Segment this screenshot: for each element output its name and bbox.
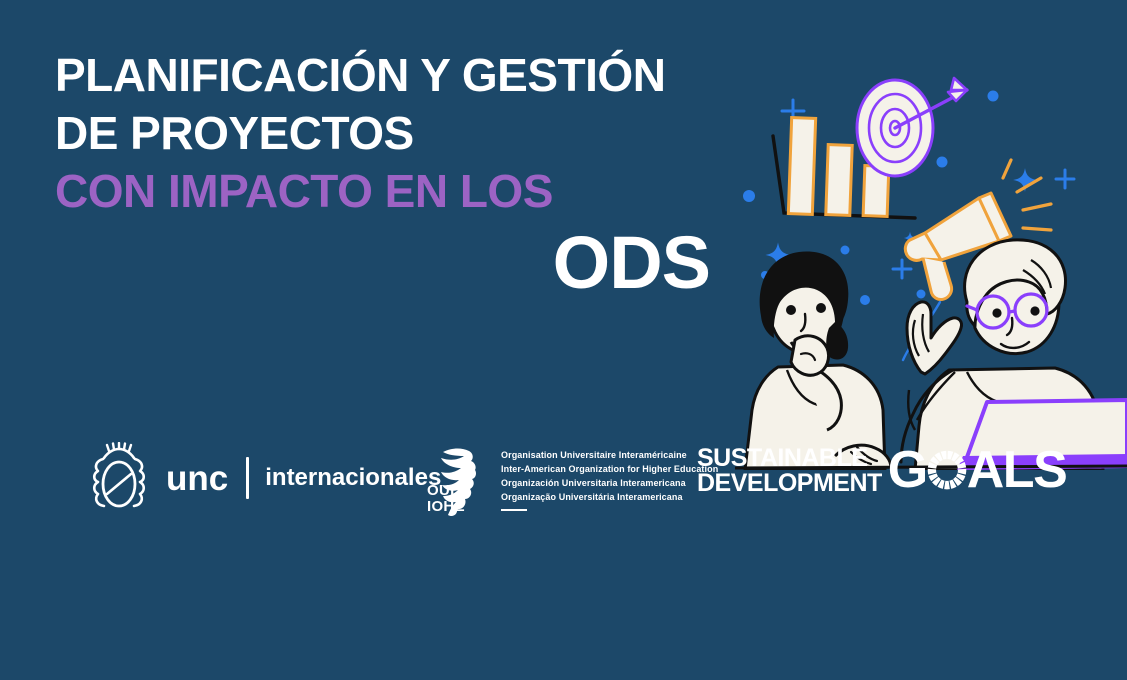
people-collaborating-illustration	[735, 70, 1127, 470]
logos-row: unc internacionales OUI IOHE	[0, 440, 1127, 532]
unc-divider	[246, 457, 249, 499]
oui-name-es: Organización Universitaria Interamerican…	[501, 477, 718, 491]
sdg-color-wheel-icon	[926, 449, 968, 491]
target-arrow-icon	[857, 78, 967, 176]
oui-name-pt: Organização Universitária Interamericana	[501, 491, 718, 505]
person-dark-hair	[745, 252, 891, 470]
unc-subtitle: internacionales	[265, 466, 441, 490]
sdg-line1: SUSTAINABLE	[697, 446, 882, 471]
unc-crest-icon	[88, 442, 150, 514]
oui-rule	[501, 509, 527, 511]
sdg-goals-g: G	[888, 447, 927, 495]
oui-name-en: Inter-American Organization for Higher E…	[501, 463, 718, 477]
sdg-goals-word: G ALS	[888, 447, 1066, 495]
unc-logo[interactable]: unc internacionales	[88, 442, 441, 514]
sdg-goals-als: ALS	[967, 447, 1067, 495]
title-line-3: CON IMPACTO EN LOS	[55, 168, 745, 214]
title-ods: ODS	[55, 226, 710, 300]
title-line-1: PLANIFICACIÓN Y GESTIÓN	[55, 52, 745, 98]
promotional-banner: PLANIFICACIÓN Y GESTIÓN DE PROYECTOS CON…	[0, 0, 1127, 680]
oui-line2: IOHE	[427, 499, 465, 514]
oui-line1: OUI	[427, 483, 465, 498]
oui-logo[interactable]: OUI IOHE Organisation Universitaire Inte…	[425, 442, 718, 518]
unc-wordmark: unc	[166, 461, 228, 496]
title-line-2: DE PROYECTOS	[55, 110, 745, 156]
oui-acronym-text: OUI IOHE	[427, 483, 465, 514]
sdg-logo[interactable]: SUSTAINABLE DEVELOPMENT G ALS	[697, 446, 1066, 495]
title-block: PLANIFICACIÓN Y GESTIÓN DE PROYECTOS CON…	[55, 52, 745, 300]
americas-map-icon: OUI IOHE	[425, 442, 493, 518]
sdg-line2: DEVELOPMENT	[697, 471, 882, 496]
sdg-wordmark: SUSTAINABLE DEVELOPMENT	[697, 446, 882, 495]
oui-names: Organisation Universitaire Interaméricai…	[501, 449, 718, 511]
oui-name-fr: Organisation Universitaire Interaméricai…	[501, 449, 718, 463]
